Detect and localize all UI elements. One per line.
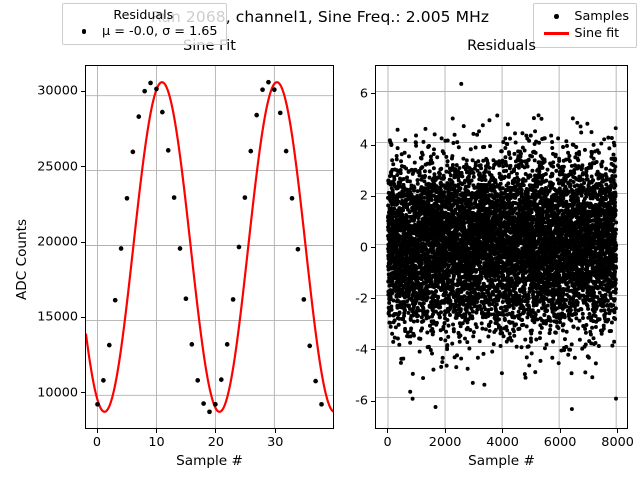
right-ytick-label: 0: [333, 240, 368, 255]
left-ytick-label: 10000: [18, 385, 78, 400]
right-xtick-label: 2000: [429, 435, 462, 450]
samples-marker-icon: [541, 14, 571, 19]
residuals-legend-title: Residuals: [69, 7, 218, 22]
left-xtick-mark: [275, 429, 276, 433]
residuals-legend: Residuals μ = -0.0, σ = 1.65: [62, 3, 227, 45]
left-xtick-mark: [156, 429, 157, 433]
right-ytick-label: 4: [333, 138, 368, 153]
left-ytick-mark: [81, 392, 85, 393]
legend-label-samples: Samples: [571, 9, 629, 24]
right-xtick-mark: [617, 429, 618, 433]
right-xtick-mark: [445, 429, 446, 433]
right-ytick-mark: [371, 298, 375, 299]
left-ytick-label: 30000: [18, 84, 78, 99]
left-xtick-mark: [215, 429, 216, 433]
residuals-canvas: [376, 66, 627, 428]
right-ytick-label: -2: [333, 291, 368, 306]
right-xtick-label: 4000: [486, 435, 519, 450]
right-ytick-mark: [371, 93, 375, 94]
legend-item-samples: Samples: [541, 8, 629, 25]
right-xtick-label: 0: [384, 435, 392, 450]
right-ytick-label: 6: [333, 87, 368, 102]
right-xtick-label: 8000: [601, 435, 634, 450]
right-xaxis-label: Sample #: [375, 453, 628, 469]
residuals-plot-area: [375, 65, 628, 429]
right-ytick-label: -6: [333, 394, 368, 409]
left-xtick-mark: [97, 429, 98, 433]
right-xtick-mark: [387, 429, 388, 433]
left-xtick-label: 20: [208, 435, 224, 450]
left-xtick-label: 0: [93, 435, 101, 450]
legend-label-residual-stats: μ = -0.0, σ = 1.65: [99, 24, 218, 39]
right-xtick-label: 6000: [544, 435, 577, 450]
right-ytick-mark: [371, 401, 375, 402]
sine-fit-canvas: [86, 66, 333, 428]
right-ytick-mark: [371, 247, 375, 248]
sine-fit-line-icon: [541, 32, 571, 34]
left-ytick-mark: [81, 242, 85, 243]
left-ytick-label: 25000: [18, 159, 78, 174]
left-xtick-label: 10: [148, 435, 164, 450]
right-ytick-mark: [371, 349, 375, 350]
right-plot-clip: [376, 66, 627, 428]
left-xtick-label: 30: [267, 435, 283, 450]
right-ytick-mark: [371, 145, 375, 146]
left-ytick-mark: [81, 91, 85, 92]
right-xtick-mark: [560, 429, 561, 433]
residuals-marker-icon: [69, 29, 99, 34]
legend-item-residual-stats: μ = -0.0, σ = 1.65: [69, 23, 218, 40]
right-xtick-mark: [502, 429, 503, 433]
left-ytick-mark: [81, 166, 85, 167]
left-xaxis-label: Sample #: [85, 453, 334, 469]
left-yaxis-label: ADC Counts: [14, 219, 30, 300]
left-ytick-mark: [81, 317, 85, 318]
left-plot-clip: [86, 66, 333, 428]
sine-fit-plot-area: [85, 65, 334, 429]
left-ytick-label: 15000: [18, 310, 78, 325]
right-ytick-label: 2: [333, 189, 368, 204]
right-ytick-label: -4: [333, 343, 368, 358]
right-ytick-mark: [371, 196, 375, 197]
right-panel-title: Residuals: [375, 38, 628, 54]
matplotlib-figure: Run 2068, channel1, Sine Freq.: 2.005 MH…: [0, 0, 640, 480]
